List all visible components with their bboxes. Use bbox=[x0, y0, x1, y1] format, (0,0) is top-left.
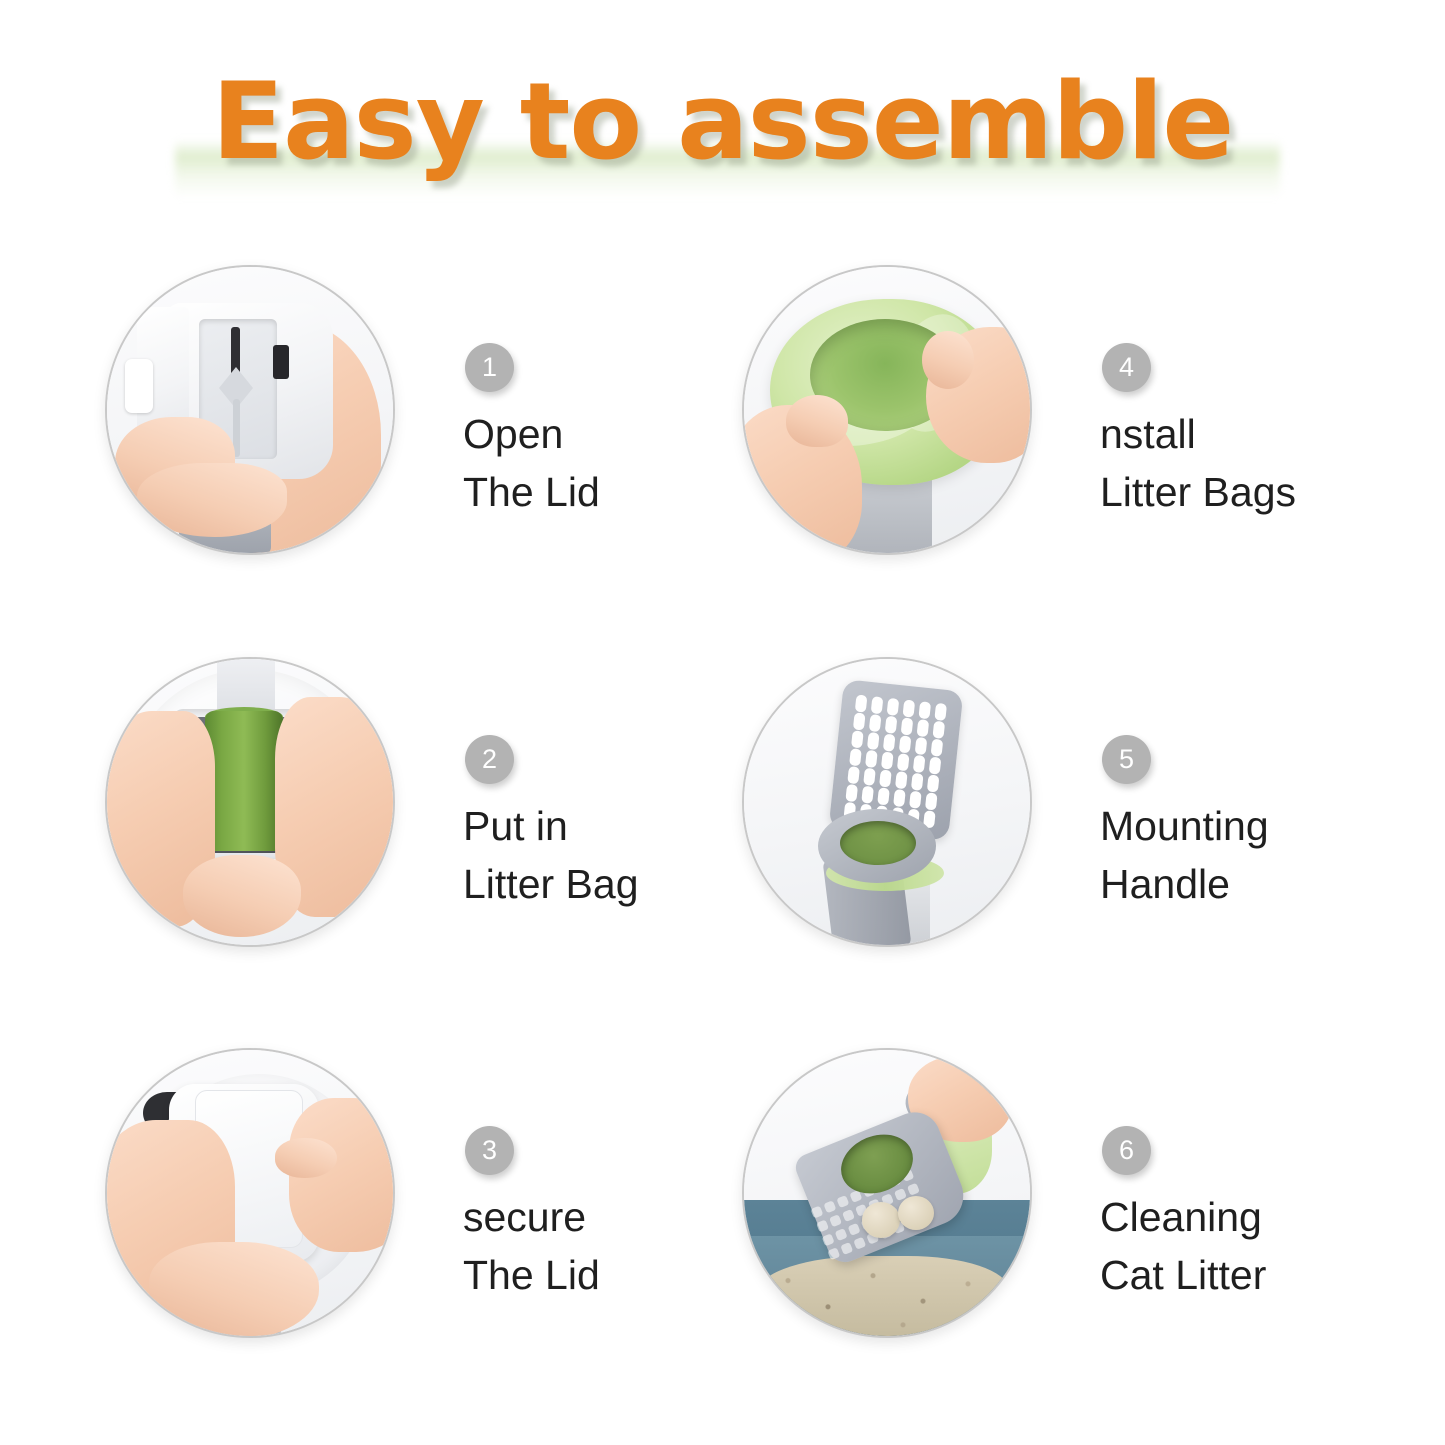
step-photo-5 bbox=[742, 657, 1032, 947]
scoop-hole bbox=[913, 755, 926, 773]
scoop-hole bbox=[911, 773, 924, 791]
step-photo-6 bbox=[742, 1048, 1032, 1338]
scoop-hole bbox=[901, 717, 914, 735]
scoop-hole bbox=[895, 771, 908, 789]
step-caption-5: Mounting Handle bbox=[1100, 797, 1269, 913]
scoop-hole bbox=[810, 1206, 823, 1219]
step-badge-4: 4 bbox=[1102, 343, 1151, 392]
scoop-hole bbox=[865, 750, 878, 768]
cat-litter bbox=[758, 1256, 1008, 1338]
scoop-hole bbox=[909, 791, 922, 809]
step-card-2: 2 Put in Litter Bag bbox=[105, 657, 795, 997]
scoop-hole bbox=[863, 768, 876, 786]
scoop-hole bbox=[867, 732, 880, 750]
step-card-4: 4 nstall Litter Bags bbox=[742, 265, 1432, 605]
scoop-hole bbox=[853, 1237, 866, 1250]
hand-fingers bbox=[137, 463, 287, 537]
step-caption-6: Cleaning Cat Litter bbox=[1100, 1188, 1266, 1304]
step-caption-line1: Mounting bbox=[1100, 797, 1269, 855]
step-badge-2: 2 bbox=[465, 735, 514, 784]
step-photo-4 bbox=[742, 265, 1032, 555]
step-caption-line1: secure bbox=[463, 1188, 600, 1246]
scoop-hole bbox=[931, 739, 944, 757]
scoop-hole bbox=[871, 696, 884, 714]
scoop-hole bbox=[822, 1233, 835, 1246]
right-thumb bbox=[922, 331, 974, 389]
step-badge-3: 3 bbox=[465, 1126, 514, 1175]
step-caption-1: Open The Lid bbox=[463, 405, 600, 521]
steps-grid: 1 Open The Lid 2 Put in bbox=[0, 0, 1445, 1445]
scoop-hole bbox=[829, 1214, 842, 1227]
pinching-fingers bbox=[275, 1138, 337, 1178]
scoop-hole bbox=[877, 787, 890, 805]
step-caption-line2: The Lid bbox=[463, 463, 600, 521]
step-badge-6: 6 bbox=[1102, 1126, 1151, 1175]
step-caption-line2: Cat Litter bbox=[1100, 1246, 1266, 1304]
scoop-hole bbox=[917, 719, 930, 737]
fingers bbox=[183, 855, 301, 937]
scoop-hole bbox=[907, 1183, 920, 1196]
scoop-hole bbox=[915, 737, 928, 755]
step-badge-1: 1 bbox=[465, 343, 514, 392]
step-photo-2 bbox=[105, 657, 395, 947]
litter-clump bbox=[862, 1202, 900, 1238]
scoop-hole bbox=[827, 1247, 840, 1260]
scoop-hole bbox=[934, 703, 947, 721]
scoop-hole bbox=[847, 766, 860, 784]
step-caption-line2: The Lid bbox=[463, 1246, 600, 1304]
scoop-hole bbox=[861, 786, 874, 804]
scoop-hole bbox=[823, 1200, 836, 1213]
scoop-hole bbox=[929, 757, 942, 775]
step-card-3: 3 secure The Lid bbox=[105, 1048, 795, 1388]
step-caption-4: nstall Litter Bags bbox=[1100, 405, 1296, 521]
step-caption-line1: Put in bbox=[463, 797, 639, 855]
scoop-hole bbox=[899, 735, 912, 753]
scoop-hole bbox=[842, 1209, 855, 1222]
scoop-hole bbox=[893, 789, 906, 807]
scoop-hole bbox=[836, 1195, 849, 1208]
scoop-hole bbox=[902, 700, 915, 718]
lid-clip bbox=[125, 359, 153, 413]
scoop-hole bbox=[925, 792, 938, 810]
green-bag-roll bbox=[205, 711, 283, 851]
scoop-hole bbox=[845, 784, 858, 802]
scoop-hole bbox=[918, 701, 931, 719]
scoop-hole bbox=[855, 695, 868, 713]
bag-lined-mouth bbox=[840, 821, 916, 865]
scoop-hole bbox=[816, 1219, 829, 1232]
scoop-hole bbox=[835, 1228, 848, 1241]
scoop-hole bbox=[849, 748, 862, 766]
scoop-hole bbox=[853, 712, 866, 730]
step-card-6: 6 Cleaning Cat Litter bbox=[742, 1048, 1432, 1388]
step-card-1: 1 Open The Lid bbox=[105, 265, 795, 605]
scoop-hole bbox=[840, 1242, 853, 1255]
step-photo-1 bbox=[105, 265, 395, 555]
step-caption-line1: nstall bbox=[1100, 405, 1296, 463]
step-caption-line2: Handle bbox=[1100, 855, 1269, 913]
step-caption-line1: Cleaning bbox=[1100, 1188, 1266, 1246]
step-photo-3 bbox=[105, 1048, 395, 1338]
supporting-fingers bbox=[149, 1242, 319, 1338]
scoop-hole bbox=[869, 714, 882, 732]
scoop-hole bbox=[932, 721, 945, 739]
left-thumb bbox=[786, 395, 848, 447]
step-caption-line1: Open bbox=[463, 405, 600, 463]
scoop-perforations bbox=[840, 690, 953, 828]
step-caption-2: Put in Litter Bag bbox=[463, 797, 639, 913]
scoop-hole bbox=[885, 716, 898, 734]
step-card-5: 5 Mounting Handle bbox=[742, 657, 1432, 997]
step-caption-line2: Litter Bags bbox=[1100, 463, 1296, 521]
black-tab bbox=[273, 345, 289, 379]
step-caption-line2: Litter Bag bbox=[463, 855, 639, 913]
scoop-hole bbox=[897, 753, 910, 771]
step-badge-5: 5 bbox=[1102, 735, 1151, 784]
step-caption-3: secure The Lid bbox=[463, 1188, 600, 1304]
scoop-hole bbox=[927, 774, 940, 792]
scoop-hole bbox=[848, 1223, 861, 1236]
scoop-hole bbox=[851, 730, 864, 748]
scoop-hole bbox=[887, 698, 900, 716]
scoop-hole bbox=[881, 752, 894, 770]
litter-clump bbox=[898, 1196, 934, 1230]
scoop-hole bbox=[879, 769, 892, 787]
scoop-hole bbox=[883, 734, 896, 752]
